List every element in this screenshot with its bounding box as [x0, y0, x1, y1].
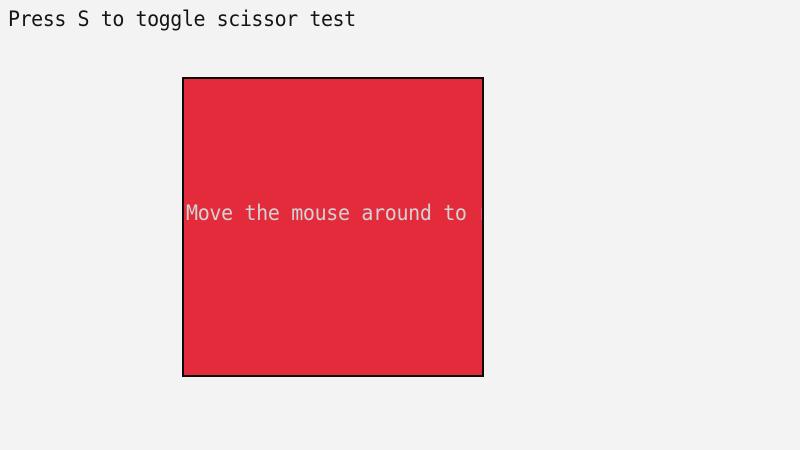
scissor-test-rectangle[interactable]: Move the mouse around to r	[182, 77, 484, 377]
app-canvas: Press S to toggle scissor test Move the …	[0, 0, 800, 450]
scissor-clipped-label: Move the mouse around to r	[186, 200, 484, 225]
scissor-toggle-hint-text: Press S to toggle scissor test	[8, 6, 356, 31]
